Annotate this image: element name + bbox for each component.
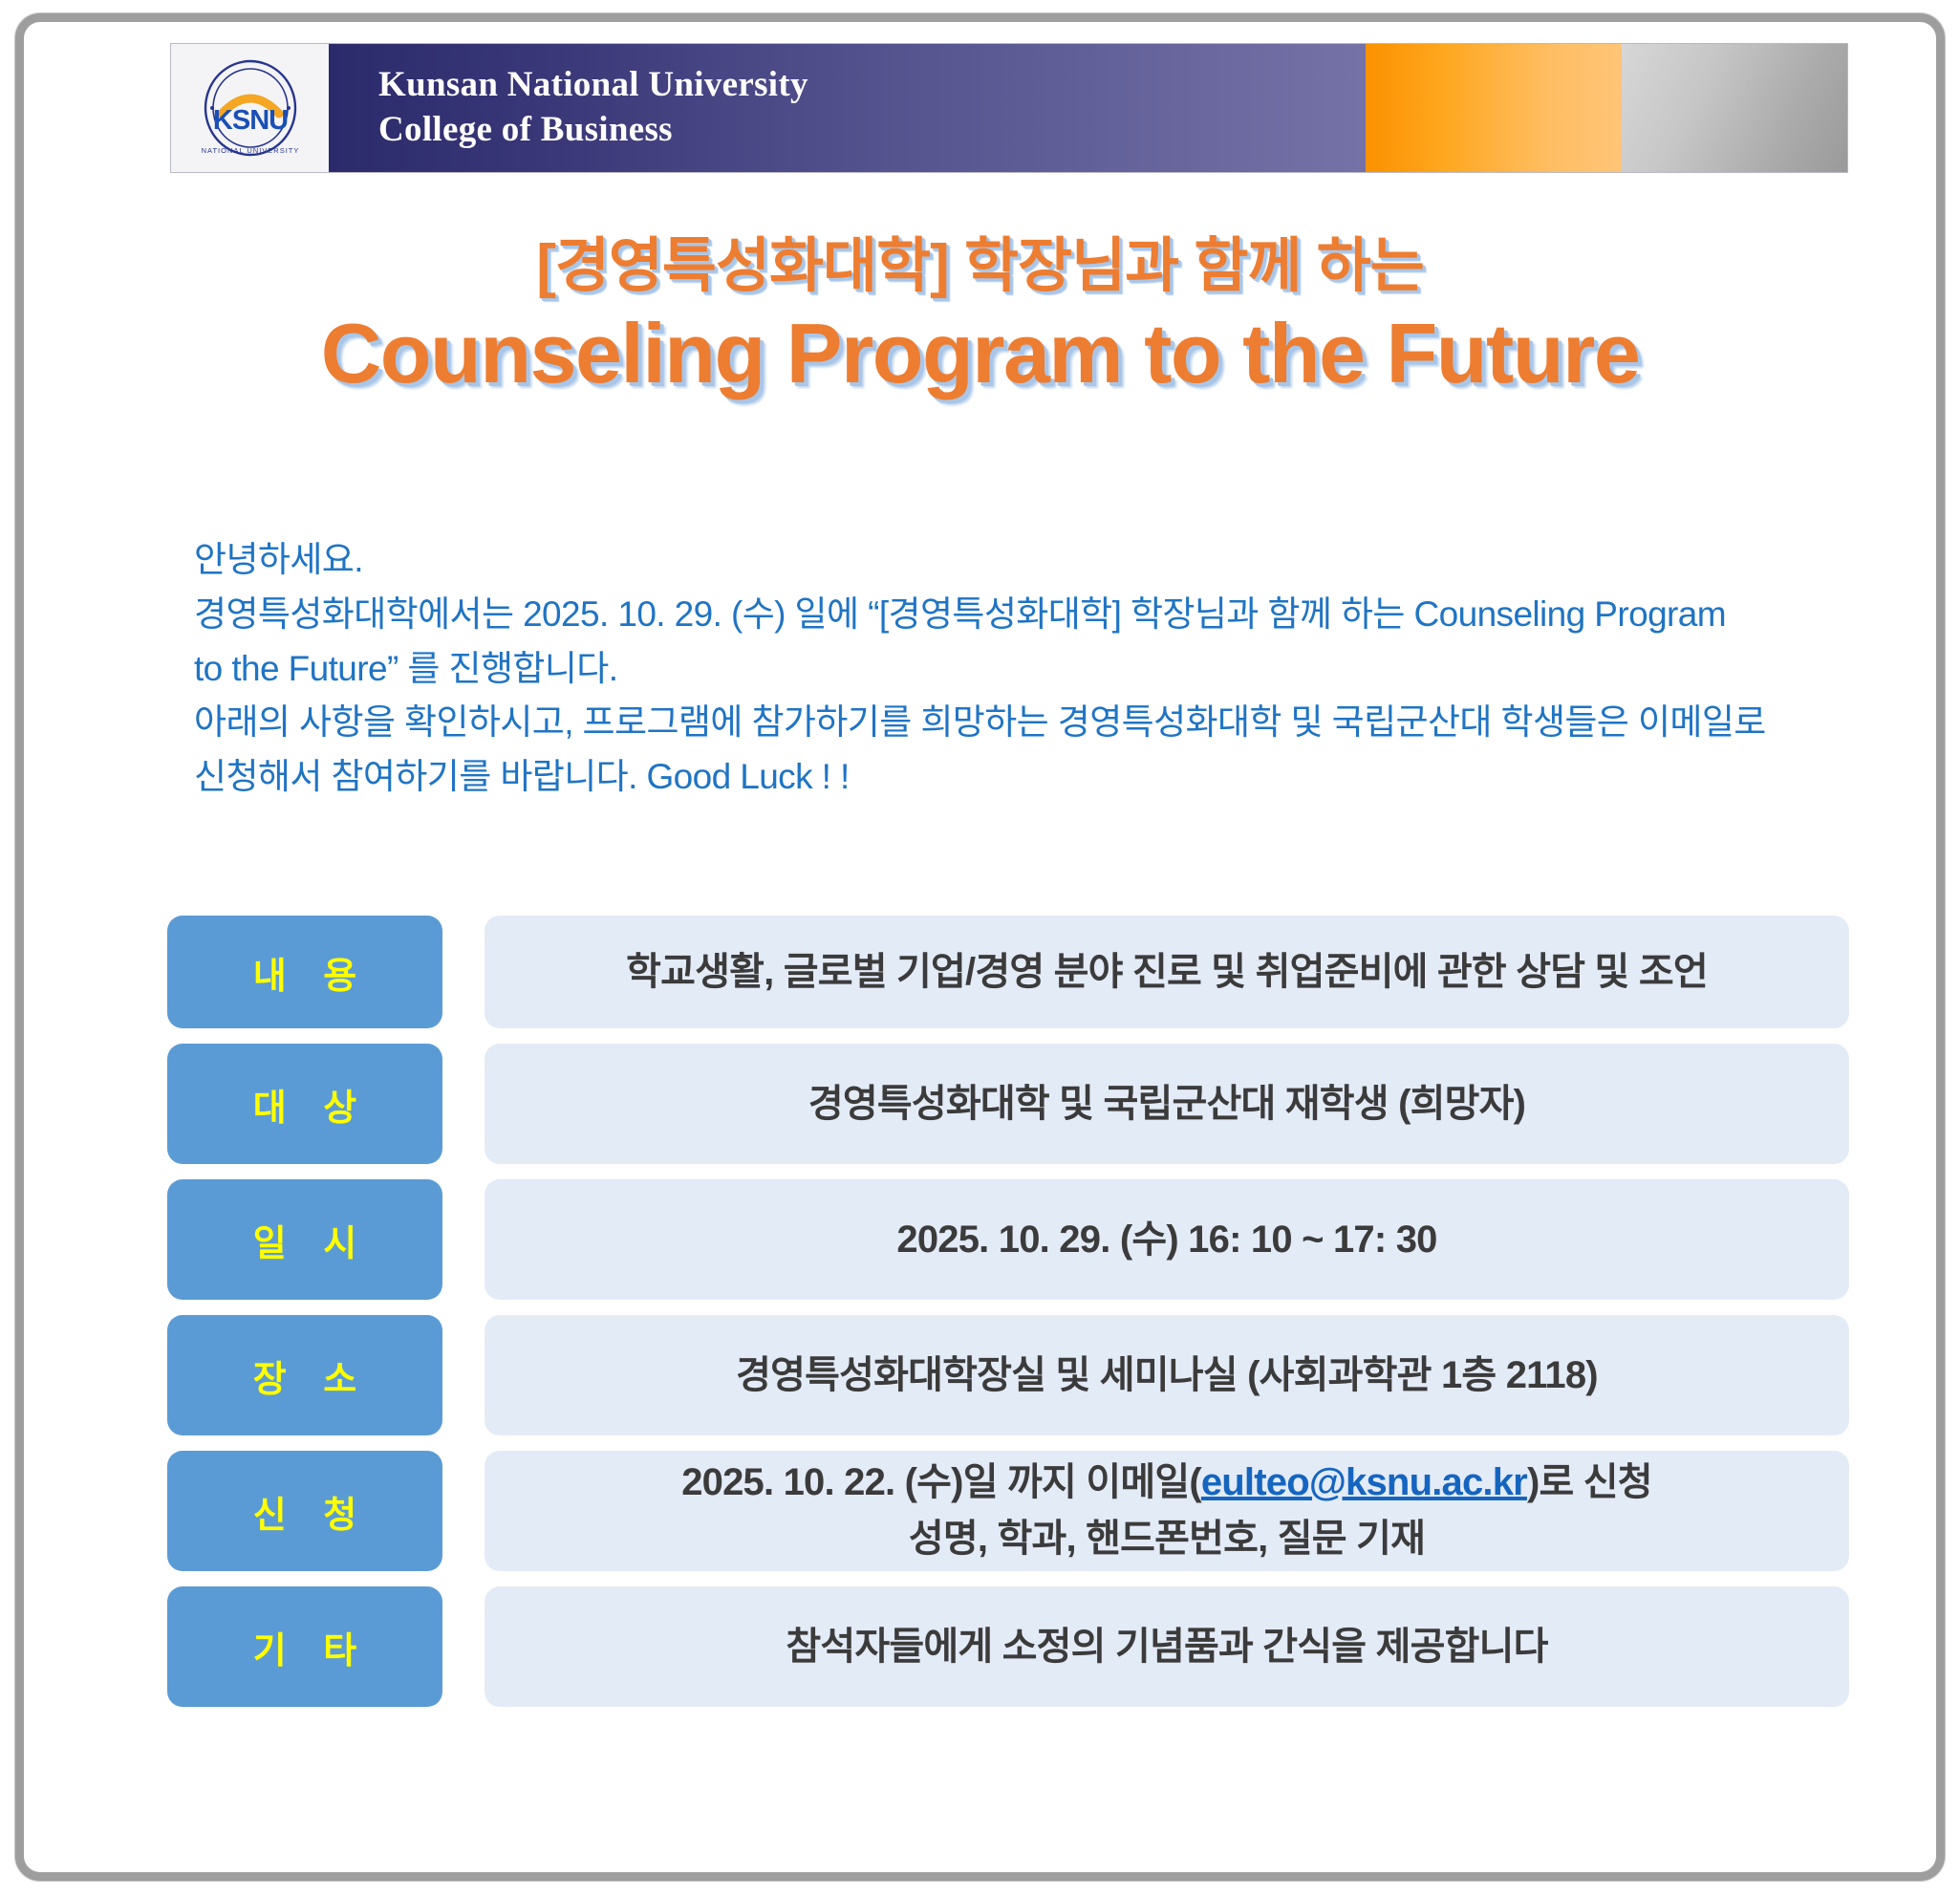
banner-orange-gradient [1366,44,1622,172]
intro-paragraph: 안녕하세요. 경영특성화대학에서는 2025. 10. 29. (수) 일에 “… [194,534,1819,804]
table-row: 신 청 2025. 10. 22. (수)일 까지 이메일(eulteo@ksn… [167,1451,1849,1571]
banner-institution-line-1: Kunsan National University [378,63,1366,108]
intro-line-3: to the Future” 를 진행합니다. [194,643,1819,696]
poster-title-block: [경영특성화대학] 학장님과 함께 하는 Counseling Program … [24,230,1936,400]
title-english: Counseling Program to the Future [24,307,1936,401]
banner-institution-block: Kunsan National University College of Bu… [329,44,1366,172]
intro-line-5: 신청해서 참여하기를 바랍니다. Good Luck ! ! [194,751,1819,804]
info-value-line: 경영특성화대학 및 국립군산대 재학생 (희망자) [808,1077,1525,1132]
info-label-audience: 대 상 [167,1044,442,1164]
banner-institution-line-2: College of Business [378,108,1366,153]
header-banner: KSNU NATIONAL UNIVERSITY Kunsan National… [170,43,1848,173]
info-label-content: 내 용 [167,916,442,1028]
info-value-location: 경영특성화대학장실 및 세미나실 (사회과학관 1층 2118) [485,1315,1849,1435]
info-table: 내 용 학교생활, 글로벌 기업/경영 분야 진로 및 취업준비에 관한 상담 … [167,916,1849,1707]
info-value-line: 2025. 10. 22. (수)일 까지 이메일(eulteo@ksnu.ac… [681,1456,1652,1510]
info-value-application: 2025. 10. 22. (수)일 까지 이메일(eulteo@ksnu.ac… [485,1451,1849,1571]
svg-text:KSNU: KSNU [212,105,287,136]
info-label-other: 기 타 [167,1586,442,1707]
info-value-content: 학교생활, 글로벌 기업/경영 분야 진로 및 취업준비에 관한 상담 및 조언 [485,916,1849,1028]
table-row: 일 시 2025. 10. 29. (수) 16: 10 ~ 17: 30 [167,1179,1849,1300]
info-value-audience: 경영특성화대학 및 국립군산대 재학생 (희망자) [485,1044,1849,1164]
application-email-link[interactable]: eulteo@ksnu.ac.kr [1201,1461,1527,1503]
ksnu-crest-icon: KSNU NATIONAL UNIVERSITY [197,54,304,162]
info-value-line: 2025. 10. 29. (수) 16: 10 ~ 17: 30 [896,1213,1436,1267]
info-label-datetime: 일 시 [167,1179,442,1300]
intro-line-1: 안녕하세요. [194,534,1819,587]
table-row: 기 타 참석자들에게 소정의 기념품과 간식을 제공합니다 [167,1586,1849,1707]
title-korean: [경영특성화대학] 학장님과 함께 하는 [24,230,1936,303]
info-label-location: 장 소 [167,1315,442,1435]
table-row: 장 소 경영특성화대학장실 및 세미나실 (사회과학관 1층 2118) [167,1315,1849,1435]
info-value-other: 참석자들에게 소정의 기념품과 간식을 제공합니다 [485,1586,1849,1707]
info-value-line-2: 성명, 학과, 핸드폰번호, 질문 기재 [909,1512,1425,1566]
application-suffix-text: )로 신청 [1527,1461,1652,1503]
info-value-line: 학교생활, 글로벌 기업/경영 분야 진로 및 취업준비에 관한 상담 및 조언 [626,945,1708,1000]
info-value-line: 경영특성화대학장실 및 세미나실 (사회과학관 1층 2118) [736,1348,1598,1403]
svg-text:NATIONAL UNIVERSITY: NATIONAL UNIVERSITY [201,146,299,155]
intro-line-2: 경영특성화대학에서는 2025. 10. 29. (수) 일에 “[경영특성화대… [194,589,1819,641]
intro-line-4: 아래의 사항을 확인하시고, 프로그램에 참가하기를 희망하는 경영특성화대학 … [194,697,1819,749]
poster-page: KSNU NATIONAL UNIVERSITY Kunsan National… [15,13,1945,1881]
info-value-line: 참석자들에게 소정의 기념품과 간식을 제공합니다 [786,1620,1547,1674]
table-row: 대 상 경영특성화대학 및 국립군산대 재학생 (희망자) [167,1044,1849,1164]
poster-frame: KSNU NATIONAL UNIVERSITY Kunsan National… [0,0,1960,1898]
banner-gray-gradient [1622,44,1847,172]
table-row: 내 용 학교생활, 글로벌 기업/경영 분야 진로 및 취업준비에 관한 상담 … [167,916,1849,1028]
info-label-application: 신 청 [167,1451,442,1571]
university-logo-cell: KSNU NATIONAL UNIVERSITY [171,44,329,172]
application-prefix-text: 2025. 10. 22. (수)일 까지 이메일( [681,1461,1201,1503]
info-value-datetime: 2025. 10. 29. (수) 16: 10 ~ 17: 30 [485,1179,1849,1300]
